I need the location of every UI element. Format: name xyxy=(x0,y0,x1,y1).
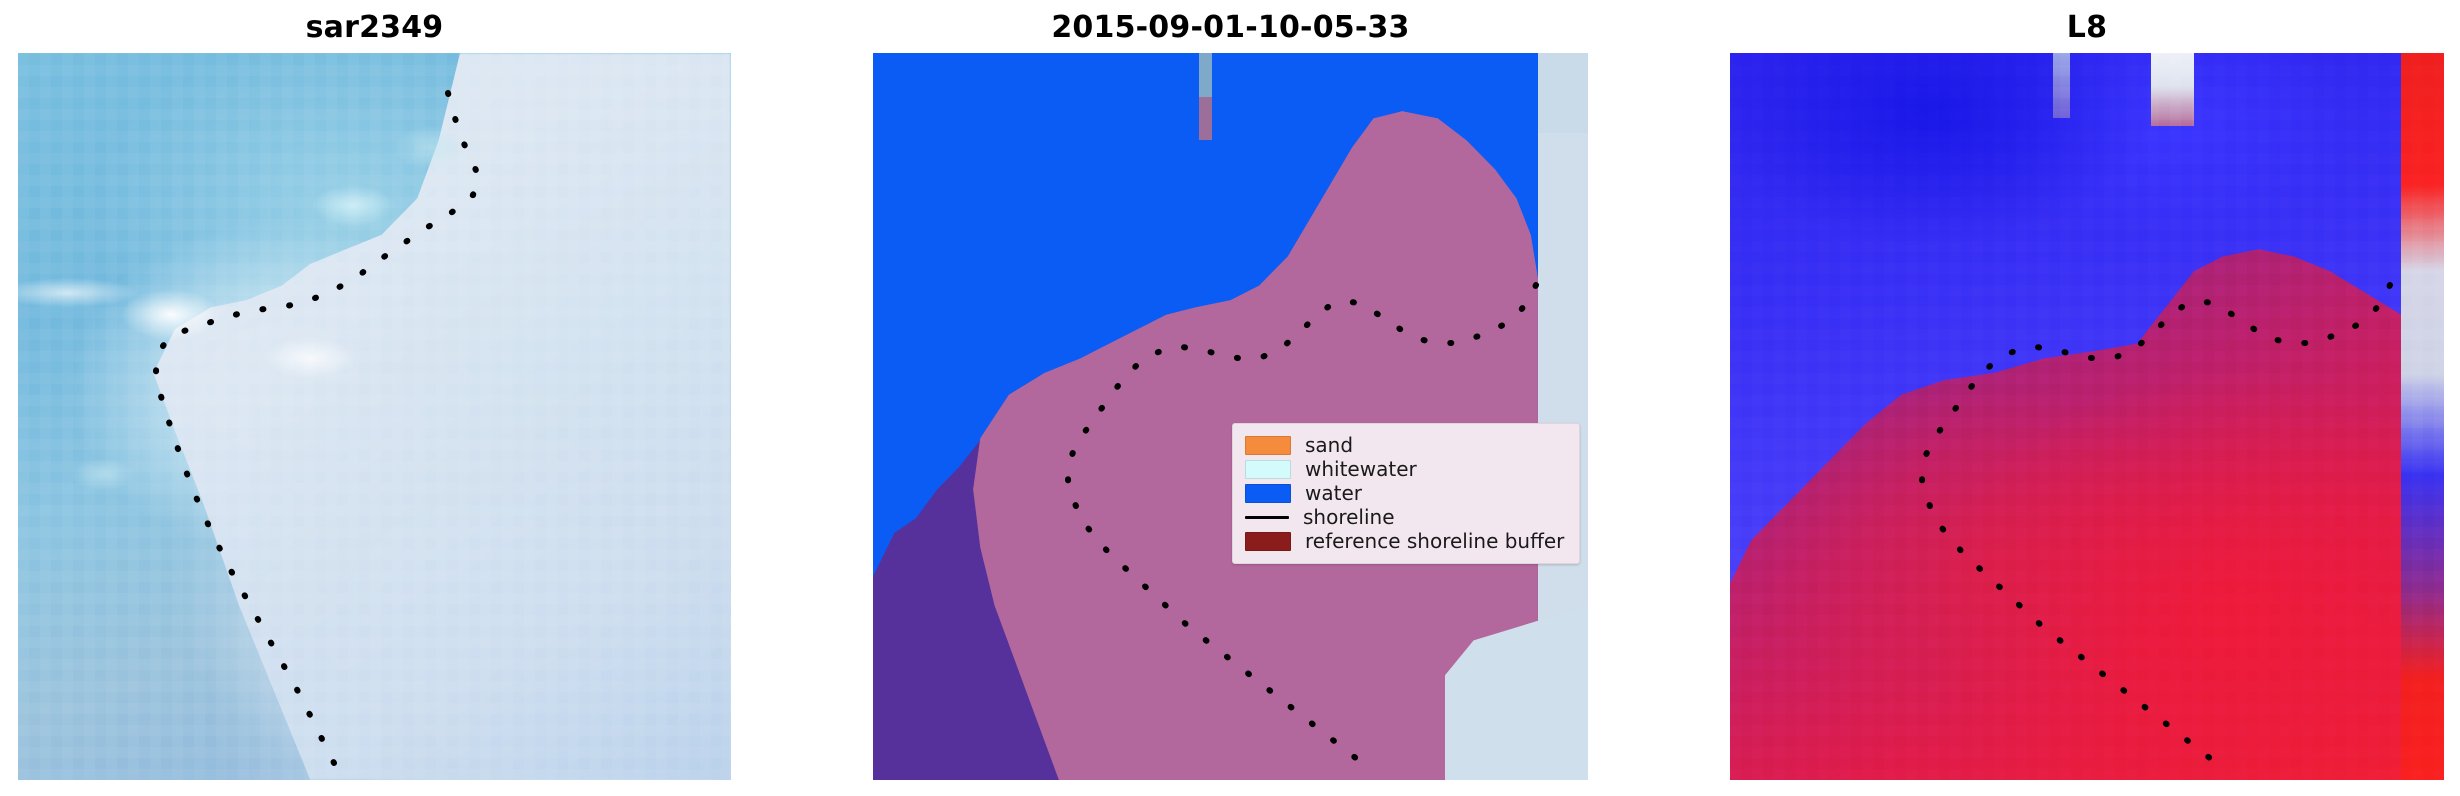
figure-canvas: sar2349 2015-09-01-10-05-33 xyxy=(0,0,2460,796)
legend-box[interactable]: sand whitewater water shoreline referenc… xyxy=(1232,423,1580,564)
legend-label-reference-shoreline-buffer: reference shoreline buffer xyxy=(1305,529,1564,553)
shoreline-overlay-l8 xyxy=(1730,53,2444,780)
legend-item-water[interactable]: water xyxy=(1245,481,1567,505)
legend-item-shoreline[interactable]: shoreline xyxy=(1245,505,1567,529)
legend-swatch-water xyxy=(1245,484,1291,503)
panel-classification[interactable]: 2015-09-01-10-05-33 xyxy=(873,53,1588,780)
legend-label-sand: sand xyxy=(1305,433,1353,457)
legend-swatch-shoreline xyxy=(1245,516,1289,519)
legend-item-whitewater[interactable]: whitewater xyxy=(1245,457,1567,481)
legend-label-shoreline: shoreline xyxy=(1303,505,1395,529)
panel-sar-rgb[interactable]: sar2349 xyxy=(18,53,731,780)
legend-swatch-sand xyxy=(1245,436,1291,455)
legend-swatch-reference-shoreline-buffer xyxy=(1245,532,1291,551)
panel-classification-image xyxy=(873,53,1588,780)
panel-l8-image xyxy=(1730,53,2444,780)
shoreline-overlay-sar xyxy=(18,53,731,780)
legend-label-water: water xyxy=(1305,481,1362,505)
panel-title-classification: 2015-09-01-10-05-33 xyxy=(873,9,1588,47)
legend-label-whitewater: whitewater xyxy=(1305,457,1417,481)
panel-title-sar: sar2349 xyxy=(18,9,731,47)
shoreline-overlay-classification xyxy=(873,53,1588,780)
panel-title-l8: L8 xyxy=(1730,9,2444,47)
legend-swatch-whitewater xyxy=(1245,460,1291,479)
panel-l8-index[interactable]: L8 xyxy=(1730,53,2444,780)
panel-sar-image xyxy=(18,53,731,780)
legend-item-sand[interactable]: sand xyxy=(1245,433,1567,457)
legend-item-reference-shoreline-buffer[interactable]: reference shoreline buffer xyxy=(1245,529,1567,553)
